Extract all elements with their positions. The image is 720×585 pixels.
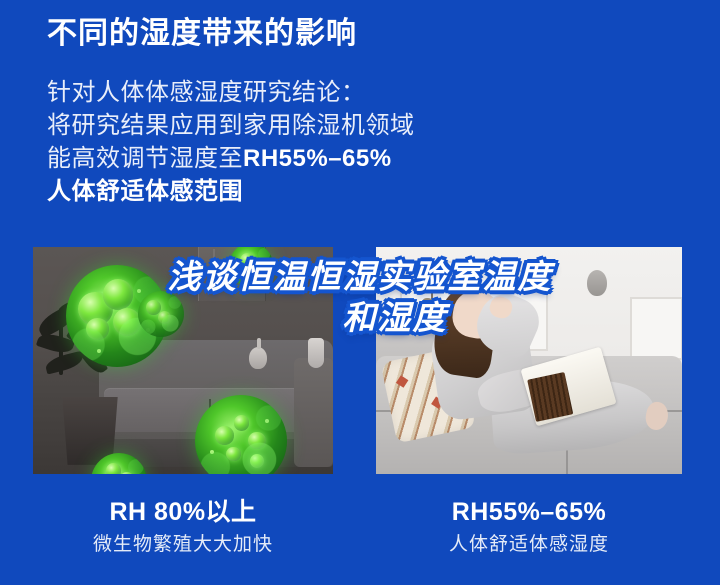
microbe-cluster-bottom	[195, 395, 287, 474]
microbe-blob	[226, 447, 241, 462]
microbe-cluster-edge	[138, 291, 184, 337]
caption-left-main: RH 80%以上	[33, 496, 333, 528]
woman-figure	[419, 288, 664, 461]
dark-room-scene	[33, 247, 333, 474]
microbe-blob	[120, 472, 133, 474]
microbe-speck	[238, 273, 242, 277]
intro-line-4: 人体舒适体感范围	[47, 175, 667, 208]
pillow-motif	[396, 375, 408, 387]
microbe-blob	[146, 300, 161, 315]
intro-line-1: 针对人体体感湿度研究结论：	[47, 76, 667, 109]
intro-line-2: 将研究结果应用到家用除湿机领域	[47, 109, 667, 142]
microbe-blob	[250, 264, 261, 275]
tall-vase	[308, 338, 324, 368]
intro-line-3-highlight: RH55%–65%	[243, 145, 392, 172]
photo-woman-reading-on-sofa	[376, 247, 682, 474]
microbe-blob	[158, 311, 171, 324]
microbe-blob	[215, 426, 233, 444]
microbe-speck	[210, 450, 214, 454]
microbe-cluster-small-top	[229, 247, 273, 287]
wall-slat	[213, 249, 215, 290]
dark-sofa-arm	[294, 358, 333, 467]
microbe-blob	[240, 253, 255, 268]
caption-right: RH55%–65% 人体舒适体感湿度	[376, 496, 682, 558]
microbe-blob	[78, 292, 113, 327]
intro-line-3-prefix: 能高效调节湿度至	[47, 145, 243, 172]
page-title: 不同的湿度带来的影响	[47, 17, 357, 50]
microbe-speck	[265, 419, 269, 423]
microbe-cluster-floor	[91, 453, 147, 474]
small-vase	[249, 347, 267, 369]
microbe-blob	[103, 279, 134, 310]
light-room-scene	[376, 247, 682, 474]
microbe-blob	[106, 463, 122, 474]
intro-text-block: 针对人体体感湿度研究结论： 将研究结果应用到家用除湿机领域 能高效调节湿度至RH…	[47, 76, 667, 208]
plant-stem	[59, 317, 63, 375]
intro-line-3: 能高效调节湿度至RH55%–65%	[47, 142, 667, 175]
humidity-infographic-poster: 不同的湿度带来的影响 针对人体体感湿度研究结论： 将研究结果应用到家用除湿机领域…	[0, 0, 720, 585]
caption-row: RH 80%以上 微生物繁殖大大加快 RH55%–65% 人体舒适体感湿度	[0, 496, 720, 576]
caption-right-main: RH55%–65%	[376, 496, 682, 528]
microbe-blob	[234, 415, 250, 431]
caption-left-sub: 微生物繁殖大大加快	[33, 532, 333, 558]
photo-dark-room-with-microbes	[33, 247, 333, 474]
microbe-blob	[250, 454, 264, 468]
microbe-blob	[248, 432, 265, 449]
caption-left: RH 80%以上 微生物繁殖大大加快	[33, 496, 333, 558]
photo-row	[0, 247, 720, 474]
microbe-speck	[97, 349, 101, 353]
caption-right-sub: 人体舒适体感湿度	[376, 532, 682, 558]
microbe-blob	[86, 318, 108, 340]
